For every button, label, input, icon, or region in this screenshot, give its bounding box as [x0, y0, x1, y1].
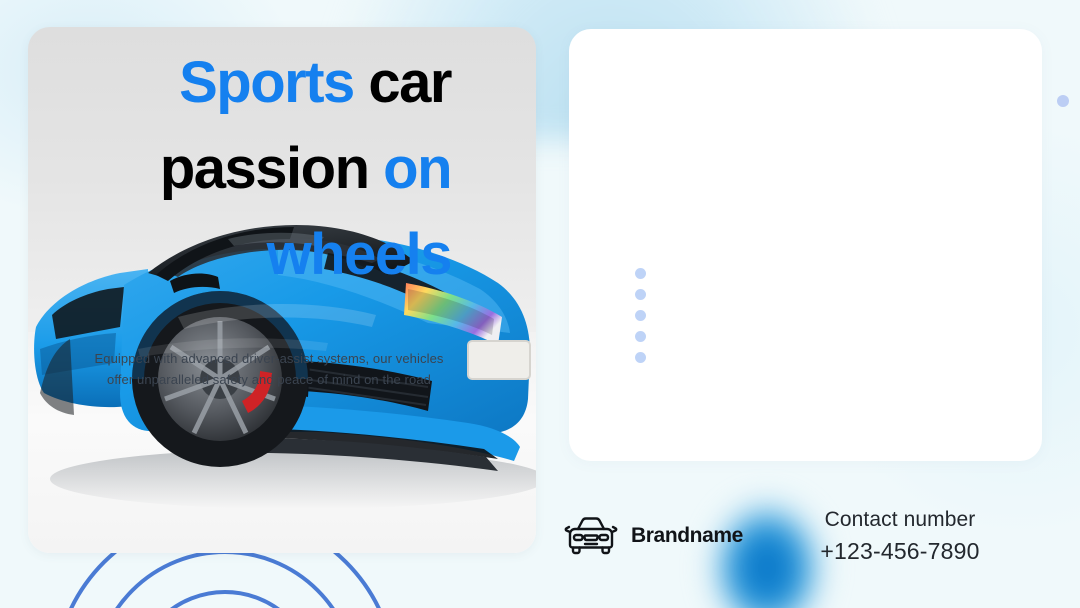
contact-label: Contact number [750, 505, 1050, 535]
decorative-dot [635, 268, 646, 279]
contact-number[interactable]: +123-456-7890 [750, 535, 1050, 567]
page-title: Sports car passion on wheels [22, 40, 451, 298]
brand-name-label: Brandname [631, 524, 743, 548]
decorative-dot [635, 289, 646, 300]
decorative-dot [635, 352, 646, 363]
dot-column-decoration [635, 268, 646, 363]
decorative-dot [635, 310, 646, 321]
promo-banner: Sports car passion on wheels Equipped wi… [0, 0, 1080, 608]
headline-card [569, 29, 1042, 461]
headline-word-passion: passion [160, 136, 369, 201]
decorative-dot [635, 331, 646, 342]
headline-word-on: on [383, 136, 451, 201]
headline-word-sports: Sports [179, 50, 354, 115]
headline-word-wheels: wheels [267, 222, 451, 287]
headline-word-car: car [368, 50, 451, 115]
contact-block: Contact number +123-456-7890 [750, 505, 1050, 567]
headline-line-1: Sports car [22, 40, 451, 126]
car-front-icon [563, 515, 619, 557]
brand-lockup[interactable]: Brandname [563, 515, 743, 557]
side-decorative-dot [1057, 95, 1069, 107]
body-paragraph: Equipped with advanced driver-assist sys… [88, 348, 450, 390]
headline-line-3: wheels [22, 212, 451, 298]
headline-line-2: passion on [22, 126, 451, 212]
